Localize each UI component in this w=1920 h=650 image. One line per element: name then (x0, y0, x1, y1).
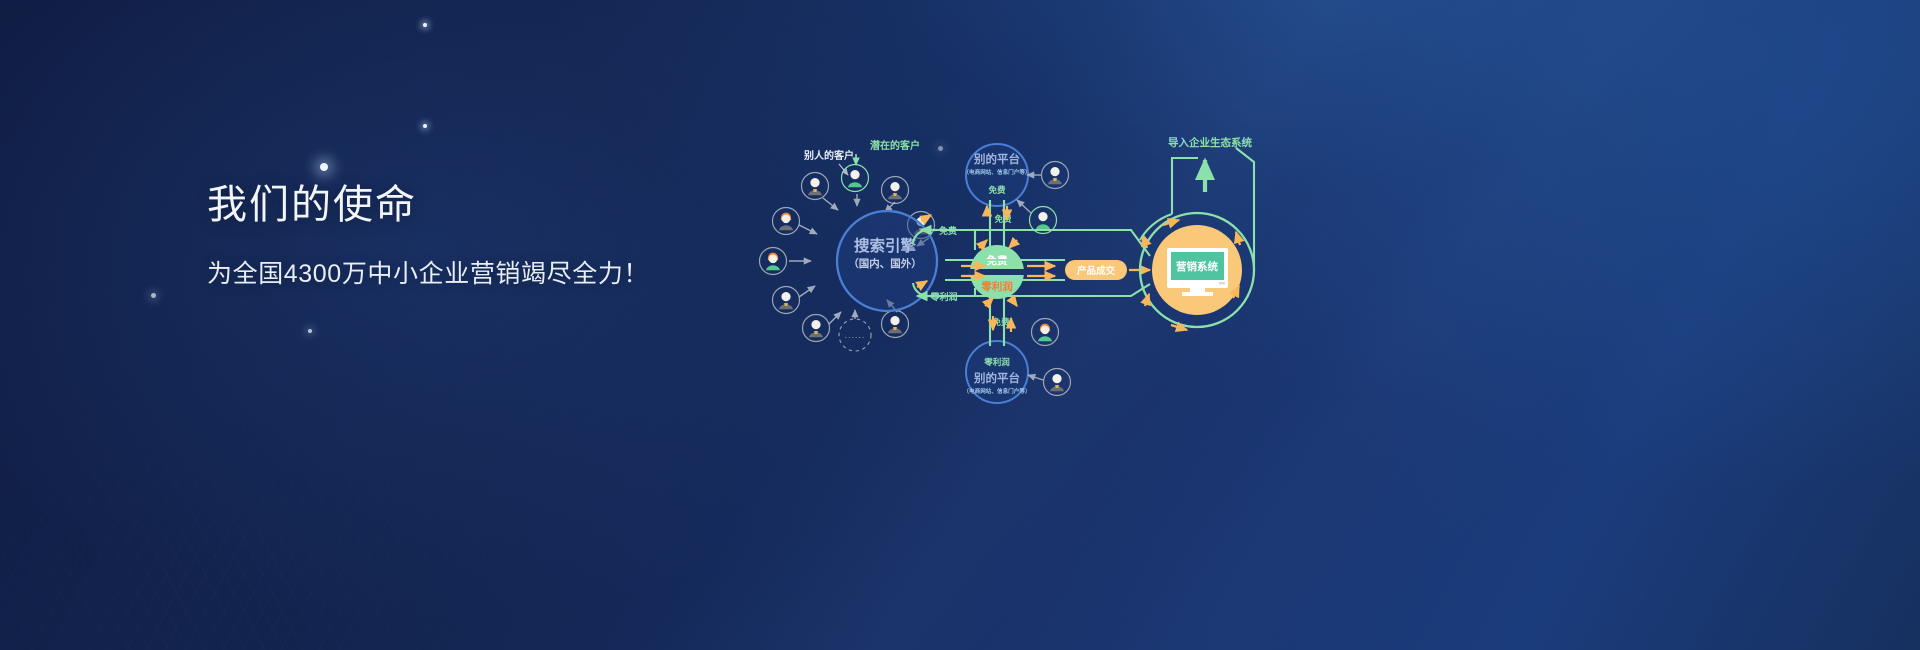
others-customers-label: 别人的客户 (803, 149, 854, 162)
marketing-ecosystem-diagram: ...... 搜索引擎 （国内、国外） (735, 120, 1265, 420)
hub-node: 免费 零利润 (968, 245, 1026, 299)
customer-avatar (1032, 319, 1059, 346)
particle-dot (423, 23, 427, 27)
import-ecosystem-label: 导入企业生态系统 (1168, 136, 1252, 149)
hero-copy: 我们的使命 为全国4300万中小企业营销竭尽全力！ (207, 180, 827, 292)
customer-avatar (1044, 369, 1071, 396)
platform-bottom-subtitle: （电商网站、信息门户等） (963, 387, 1030, 395)
deal-pill-label: 产品成交 (1077, 265, 1116, 277)
platform-bottom-node: 零利润 别的平台 （电商网站、信息门户等） (963, 341, 1030, 403)
hub-zero-profit-label: 零利润 (980, 280, 1013, 293)
platform-top-title: 别的平台 (973, 152, 1020, 166)
particle-dot (308, 329, 312, 333)
customer-avatar (760, 248, 787, 275)
particle-dot (151, 293, 156, 298)
platform-bottom-title: 别的平台 (973, 371, 1020, 385)
customer-avatar (773, 208, 800, 235)
customer-avatar (842, 165, 869, 192)
platform-top-subtitle: （电商网站、信息门户等） (963, 168, 1030, 176)
particle-dot (423, 124, 427, 128)
customer-avatar (773, 287, 800, 314)
others-customers-callout: 别人的客户 (803, 149, 854, 175)
customer-avatar (1042, 162, 1069, 189)
marketing-system-node: 营销系统 (1140, 213, 1254, 327)
more-customers-placeholder: ...... (839, 319, 871, 351)
customer-avatar (802, 173, 829, 200)
platform-bottom-zero-profit-label: 零利润 (983, 357, 1010, 367)
platform-top-node: 别的平台 （电商网站、信息门户等） 免费 (963, 144, 1030, 206)
free-label-top-right: 免费 (994, 214, 1012, 224)
hero-banner: 我们的使命 为全国4300万中小企业营销竭尽全力！ (0, 0, 1920, 650)
free-label-bottom-right: 免费 (992, 317, 1010, 327)
deal-pill: 产品成交 (1065, 260, 1127, 280)
particle-dot (320, 163, 328, 171)
customer-avatar (803, 315, 830, 342)
search-engine-subtitle: （国内、国外） (848, 257, 922, 270)
zero-profit-label-search-bottom: 零利润 (929, 291, 957, 302)
search-engine-title: 搜索引擎 (854, 236, 917, 255)
marketing-system-label: 营销系统 (1176, 260, 1218, 273)
customer-avatar (882, 177, 909, 204)
ellipsis-label: ...... (845, 331, 866, 340)
potential-customers-label: 潜在的客户 (870, 139, 920, 152)
free-label-search-top: 免费 (939, 225, 957, 236)
page-title: 我们的使命 (207, 180, 827, 230)
page-subtitle: 为全国4300万中小企业营销竭尽全力！ (207, 258, 827, 292)
potential-customers-callout: 潜在的客户 (856, 139, 920, 165)
background-mesh-texture (0, 260, 720, 650)
platform-top-free-label: 免费 (988, 185, 1006, 195)
customer-avatar (882, 311, 909, 338)
